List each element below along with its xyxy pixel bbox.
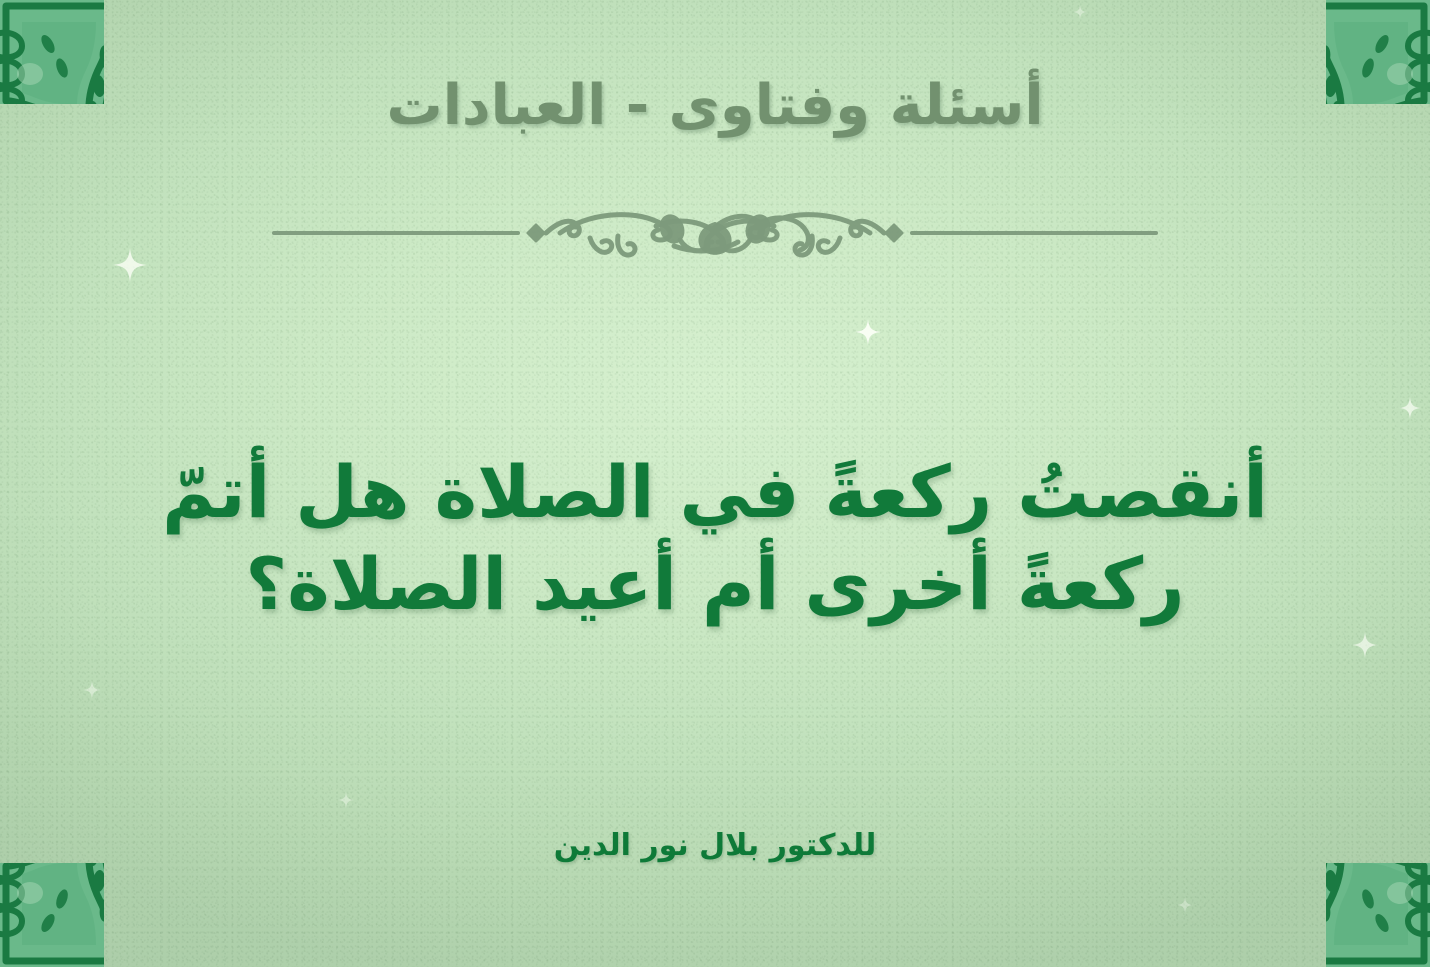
fatwa-question-card: أسئلة وفتاوى - العبادات	[0, 0, 1430, 967]
sparkle-icon	[338, 792, 354, 808]
question-line-2: ركعةً أخرى أم أعيد الصلاة؟	[140, 538, 1290, 630]
corner-ornament-bottom-left	[0, 863, 104, 967]
sparkle-icon	[1352, 632, 1378, 658]
sparkle-icon	[855, 319, 881, 345]
sparkle-icon	[1177, 897, 1193, 913]
author-attribution: للدكتور بلال نور الدين	[0, 828, 1430, 863]
sparkle-icon	[1399, 397, 1421, 419]
sparkle-icon	[83, 681, 101, 699]
question-line-1: أنقصتُ ركعةً في الصلاة هل أتمّ	[140, 446, 1290, 538]
sparkle-icon	[1073, 5, 1087, 19]
ornamental-flourish-divider-icon	[260, 196, 1170, 270]
header: أسئلة وفتاوى - العبادات	[0, 74, 1430, 138]
question-text: أنقصتُ ركعةً في الصلاة هل أتمّ ركعةً أخر…	[140, 446, 1290, 630]
corner-ornament-bottom-right	[1326, 863, 1430, 967]
sparkle-icon	[113, 248, 147, 282]
page-title: أسئلة وفتاوى - العبادات	[0, 74, 1430, 138]
